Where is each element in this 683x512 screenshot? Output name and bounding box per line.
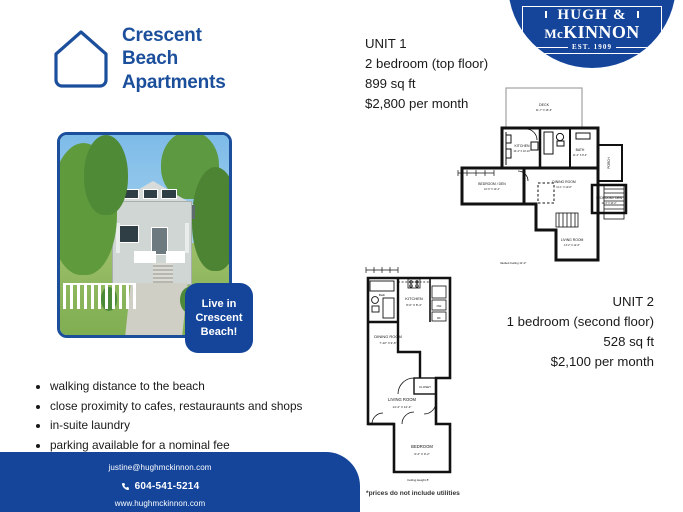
contact-footer-inner: justine@hughmckinnon.com 604-541-5214 ww…	[0, 464, 320, 509]
room-dims: 7'-10" X 9'-6"	[379, 341, 396, 345]
window	[117, 225, 139, 243]
unit-2-details: UNIT 2 1 bedroom (second floor) 528 sq f…	[507, 292, 654, 372]
room-label: KITCHEN	[405, 296, 423, 301]
room-label: DECK	[539, 103, 550, 107]
room-label: DINING ROOM	[374, 334, 402, 339]
badge-line-1: HUGH &	[557, 8, 626, 23]
list-item: in-suite laundry	[50, 416, 302, 436]
window	[143, 189, 158, 199]
porch-railing	[134, 251, 156, 263]
unit-1-description: 2 bedroom (top floor)	[365, 54, 488, 74]
room-dims: 10'-4" X 10'-2"	[601, 202, 616, 205]
picket-fence	[63, 283, 136, 309]
room-dims: 11'-0" X 8'-4"	[573, 154, 587, 157]
room-label: Bath	[379, 293, 386, 297]
badge-established: EST. 1909	[572, 43, 612, 51]
unit-1-floorplan: DECK 11'-7" X 16'-6" KITCHEN 10'-4" X 10…	[452, 85, 632, 265]
badge-frame: HUGH & McKINNON EST. 1909	[522, 6, 662, 54]
brand-logo: Crescent Beach Apartments	[52, 24, 226, 94]
unit-2-area: 528 sq ft	[507, 332, 654, 352]
front-steps	[153, 263, 173, 285]
room-dims: 14'-4" X 12'-4"	[393, 405, 412, 409]
contact-phone: 604-541-5214	[135, 481, 200, 492]
room-dims: 8'-0" X 8'-4"	[406, 303, 422, 307]
logo-line-3: Apartments	[122, 71, 226, 94]
unit-2-floorplan: KITCHEN 8'-0" X 8'-4" Bath DINING ROOM 7…	[358, 262, 480, 488]
room-label: KITCHEN	[515, 144, 530, 148]
room-label: LIVING ROOM	[388, 397, 416, 402]
tree	[84, 135, 128, 215]
room-label: BEDROOM	[411, 444, 433, 449]
badge-rule-right	[616, 47, 652, 48]
list-item: close proximity to cafes, restauraunts a…	[50, 397, 302, 417]
porch-railing	[166, 251, 185, 263]
floorplan-note: Ceiling Height 8'	[407, 478, 429, 482]
live-in-badge-label: Live in Crescent Beach!	[195, 297, 242, 339]
phone-icon	[121, 482, 130, 491]
contact-phone-row[interactable]: 604-541-5214	[0, 481, 320, 492]
house-outline-icon	[52, 28, 110, 90]
room-label: DINING ROOM	[552, 180, 576, 184]
window	[161, 189, 176, 199]
contact-footer: justine@hughmckinnon.com 604-541-5214 ww…	[0, 452, 360, 512]
tree	[192, 167, 232, 271]
list-item: walking distance to the beach	[50, 377, 302, 397]
logo-line-1: Crescent	[122, 24, 226, 47]
porch-column	[185, 223, 189, 253]
logo-line-2: Beach	[122, 47, 226, 70]
badge-line-2: McKINNON	[544, 23, 639, 42]
appliance-label: DW	[437, 304, 442, 308]
room-dims: 9'-4" X 9'-2"	[414, 452, 430, 456]
room-dims: 13'-2" X 12'-6"	[564, 244, 580, 247]
badge-rule-left	[532, 47, 568, 48]
room-label: PORCH	[607, 157, 611, 169]
hugh-mckinnon-badge: HUGH & McKINNON EST. 1909	[508, 0, 676, 68]
porch-column	[116, 223, 120, 253]
contact-website[interactable]: www.hughmckinnon.com	[0, 500, 320, 509]
room-dims: 11'-7" X 16'-6"	[536, 108, 552, 112]
unit-2-price: $2,100 per month	[507, 352, 654, 372]
logo-wordmark: Crescent Beach Apartments	[122, 24, 226, 94]
unit-2-title: UNIT 2	[507, 292, 654, 312]
flyer-page: Crescent Beach Apartments HUGH & McKINNO…	[0, 0, 683, 512]
room-label: BEDROOM / DEN	[596, 196, 623, 200]
unit-2-description: 1 bedroom (second floor)	[507, 312, 654, 332]
room-label: BATH	[576, 148, 585, 152]
room-dims: 10'-4" X 10'-10"	[513, 150, 530, 153]
room-dims: 11'-1" X 10'-8"	[556, 186, 572, 189]
room-label: BEDROOM / DEN	[478, 182, 506, 186]
room-label: CLOSET	[419, 385, 431, 389]
badge-established-row: EST. 1909	[532, 43, 652, 51]
live-in-crescent-beach-badge: Live in Crescent Beach!	[185, 283, 253, 353]
features-list: walking distance to the beach close prox…	[36, 377, 302, 455]
price-disclaimer: *prices do not include utilities	[366, 490, 460, 497]
unit-1-title: UNIT 1	[365, 34, 488, 54]
room-label: LIVING ROOM	[561, 238, 584, 242]
floorplan-note: Vaulted Ceiling 11'-0"	[500, 261, 526, 265]
contact-email[interactable]: justine@hughmckinnon.com	[0, 464, 320, 473]
appliance-label: RF	[437, 316, 441, 320]
room-dims: 10'-0" X 10'-4"	[484, 188, 500, 191]
